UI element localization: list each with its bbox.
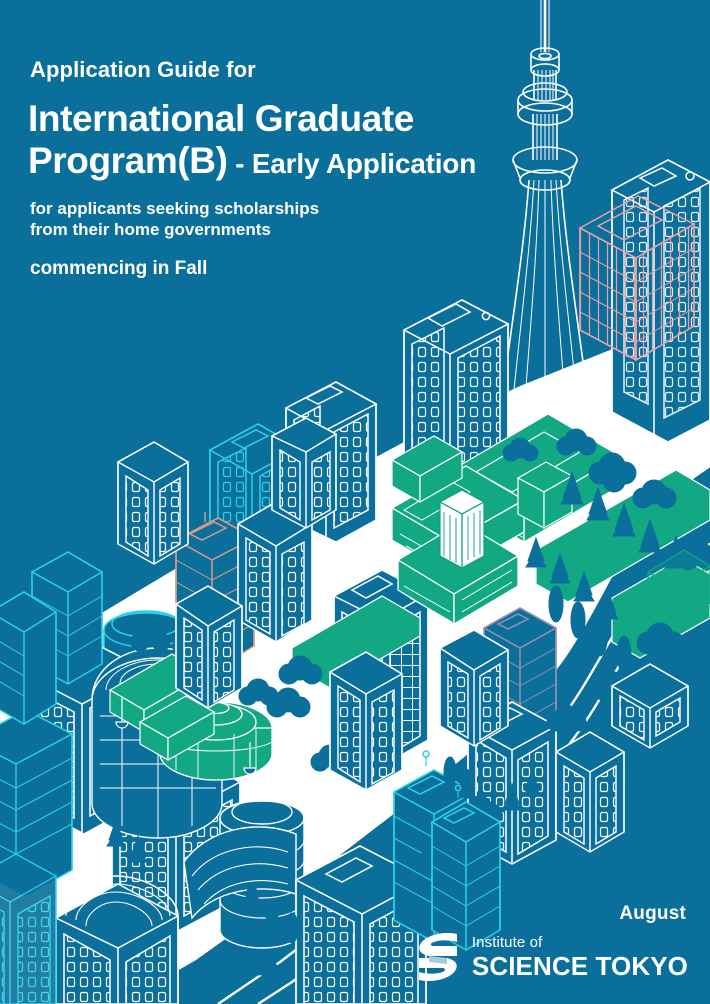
building-misc-8 [0, 592, 56, 724]
logo-line-2: SCIENCE TOKYO [472, 953, 688, 979]
building-misc-6 [118, 442, 188, 564]
cover-kicker: Application Guide for [30, 58, 256, 82]
building-misc-3 [330, 652, 402, 790]
cover-lede: for applicants seeking scholarships from… [30, 198, 319, 240]
logo-line-1: Institute of [472, 935, 688, 950]
science-tokyo-s-mark [417, 932, 459, 982]
document-cover: Application Guide for International Grad… [0, 0, 710, 1004]
logo-wordmark: Institute of SCIENCE TOKYO [472, 935, 688, 979]
building-edge-left [0, 854, 56, 1004]
commencing-note: commencing in Fall [30, 258, 207, 280]
title-line-1: International Graduate [28, 98, 688, 140]
page-title: International Graduate Program(B) - Earl… [28, 98, 688, 185]
title-early-application: - Early Application [228, 148, 477, 179]
building-misc-2 [176, 586, 242, 708]
lede-line-2: from their home governments [30, 219, 319, 240]
building-pink-tower [578, 164, 696, 360]
title-line-2: Program(B) - Early Application [28, 140, 688, 185]
title-program: Program(B) [28, 140, 228, 181]
building-misc-4 [440, 630, 508, 746]
institution-logo: Institute of SCIENCE TOKYO [417, 932, 688, 982]
lede-line-1: for applicants seeking scholarships [30, 198, 319, 219]
publication-month: August [619, 903, 686, 925]
building-misc-5 [272, 418, 336, 528]
building-fill-right-1 [556, 732, 624, 852]
